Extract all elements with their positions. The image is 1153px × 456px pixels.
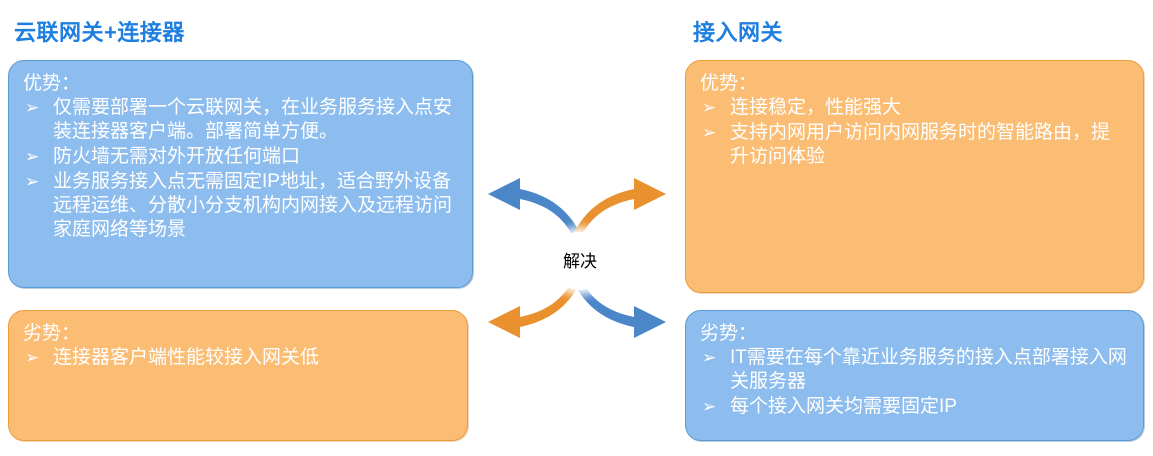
column-title-left: 云联网关+连接器 — [14, 22, 185, 44]
list-item: ➢ 连接稳定，性能强大 — [700, 96, 1127, 120]
list-item: ➢ 仅需要部署一个云联网关，在业务服务接入点安装连接器客户端。部署简单方便。 — [23, 96, 456, 144]
arrow-bullet-icon: ➢ — [702, 395, 716, 418]
list-item-text: 防火墙无需对外开放任何端口 — [53, 146, 300, 167]
panel-left-advantages-list: ➢ 仅需要部署一个云联网关，在业务服务接入点安装连接器客户端。部署简单方便。 ➢… — [23, 96, 456, 243]
panel-right-advantages-list: ➢ 连接稳定，性能强大 ➢ 支持内网用户访问内网服务时的智能路由，提升访问体验 — [700, 96, 1127, 169]
arrow-bullet-icon: ➢ — [25, 346, 39, 369]
list-item: ➢ 业务服务接入点无需固定IP地址，适合野外设备远程运维、分散小分支机构内网接入… — [23, 170, 456, 242]
center-hub-label: 解决 — [563, 253, 597, 270]
arrow-bullet-icon: ➢ — [702, 346, 716, 369]
list-item-text: 支持内网用户访问内网服务时的智能路由，提升访问体验 — [730, 122, 1110, 167]
center-hub-circle: 解决 — [551, 232, 609, 290]
arrow-bullet-icon: ➢ — [25, 170, 39, 193]
panel-left-advantages-heading: 优势： — [23, 73, 456, 95]
list-item: ➢ 支持内网用户访问内网服务时的智能路由，提升访问体验 — [700, 121, 1127, 169]
arrow-bullet-icon: ➢ — [25, 145, 39, 168]
list-item-text: 连接稳定，性能强大 — [730, 97, 901, 118]
arrow-bullet-icon: ➢ — [702, 121, 716, 144]
panel-left-advantages: 优势： ➢ 仅需要部署一个云联网关，在业务服务接入点安装连接器客户端。部署简单方… — [8, 60, 473, 288]
list-item: ➢ 防火墙无需对外开放任何端口 — [23, 145, 456, 169]
panel-right-advantages-heading: 优势： — [700, 73, 1127, 95]
arrow-bullet-icon: ➢ — [702, 96, 716, 119]
slide-canvas: 云联网关+连接器 优势： ➢ 仅需要部署一个云联网关，在业务服务接入点安装连接器… — [0, 0, 1153, 456]
panel-right-disadvantages-heading: 劣势： — [700, 323, 1127, 345]
list-item-text: 仅需要部署一个云联网关，在业务服务接入点安装连接器客户端。部署简单方便。 — [53, 97, 452, 142]
list-item-text: IT需要在每个靠近业务服务的接入点部署接入网关服务器 — [730, 347, 1127, 392]
panel-right-disadvantages-list: ➢ IT需要在每个靠近业务服务的接入点部署接入网关服务器 ➢ 每个接入网关均需要… — [700, 346, 1127, 419]
column-title-right: 接入网关 — [693, 22, 783, 44]
list-item-text: 每个接入网关均需要固定IP — [730, 396, 957, 417]
list-item-text: 连接器客户端性能较接入网关低 — [53, 347, 319, 368]
list-item: ➢ IT需要在每个靠近业务服务的接入点部署接入网关服务器 — [700, 346, 1127, 394]
panel-right-advantages: 优势： ➢ 连接稳定，性能强大 ➢ 支持内网用户访问内网服务时的智能路由，提升访… — [685, 60, 1144, 293]
panel-left-disadvantages-heading: 劣势： — [23, 323, 451, 345]
panel-left-disadvantages: 劣势： ➢ 连接器客户端性能较接入网关低 — [8, 310, 468, 441]
list-item: ➢ 每个接入网关均需要固定IP — [700, 395, 1127, 419]
panel-right-disadvantages: 劣势： ➢ IT需要在每个靠近业务服务的接入点部署接入网关服务器 ➢ 每个接入网… — [685, 310, 1144, 441]
arrow-bullet-icon: ➢ — [25, 96, 39, 119]
list-item: ➢ 连接器客户端性能较接入网关低 — [23, 346, 451, 370]
list-item-text: 业务服务接入点无需固定IP地址，适合野外设备远程运维、分散小分支机构内网接入及远… — [53, 171, 452, 240]
panel-left-disadvantages-list: ➢ 连接器客户端性能较接入网关低 — [23, 346, 451, 370]
